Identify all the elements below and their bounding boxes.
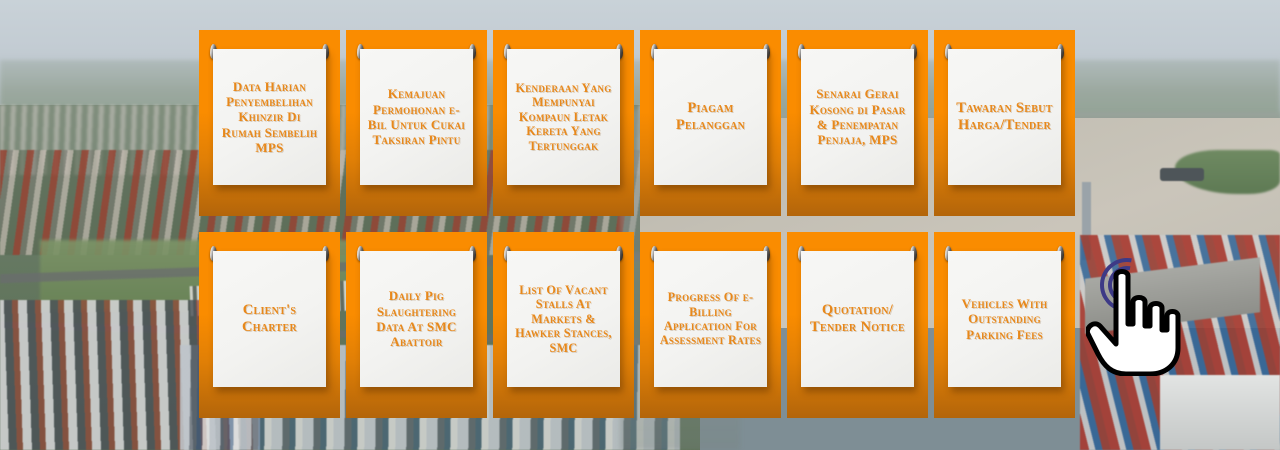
card-label: Daily Pig Slaughtering Data At SMC Abatt… (365, 288, 468, 349)
service-card-4[interactable]: Piagam Pelanggan (640, 30, 781, 216)
card-label: Kenderaan Yang Mempunyai Kompaun Letak K… (512, 81, 615, 153)
service-card-11[interactable]: Quotation/ Tender Notice (787, 232, 928, 418)
card-paper: Client's Charter (213, 251, 326, 387)
card-paper: Quotation/ Tender Notice (801, 251, 914, 387)
card-paper: Senarai Gerai Kosong di Pasar & Penempat… (801, 49, 914, 185)
card-paper: Kemajuan Permohonan e-Bil Untuk Cukai Ta… (360, 49, 473, 185)
card-label: Quotation/ Tender Notice (806, 302, 909, 336)
card-paper: Daily Pig Slaughtering Data At SMC Abatt… (360, 251, 473, 387)
service-card-3[interactable]: Kenderaan Yang Mempunyai Kompaun Letak K… (493, 30, 634, 216)
card-row-1: Data Harian Penyembelihan Khinzir Di Rum… (199, 30, 1081, 216)
card-label: Piagam Pelanggan (659, 100, 762, 134)
river-barge (1160, 168, 1204, 181)
card-label: List Of Vacant Stalls At Markets & Hawke… (512, 283, 615, 355)
card-label: Tawaran Sebut Harga/Tender (953, 100, 1056, 134)
service-card-5[interactable]: Senarai Gerai Kosong di Pasar & Penempat… (787, 30, 928, 216)
card-paper: Kenderaan Yang Mempunyai Kompaun Letak K… (507, 49, 620, 185)
service-card-1[interactable]: Data Harian Penyembelihan Khinzir Di Rum… (199, 30, 340, 216)
card-label: Progress Of e-Billing Application For As… (659, 290, 762, 348)
card-label: Data Harian Penyembelihan Khinzir Di Rum… (218, 79, 321, 156)
card-paper: List Of Vacant Stalls At Markets & Hawke… (507, 251, 620, 387)
card-label: Kemajuan Permohonan e-Bil Untuk Cukai Ta… (365, 86, 468, 147)
card-paper: Piagam Pelanggan (654, 49, 767, 185)
service-card-6[interactable]: Tawaran Sebut Harga/Tender (934, 30, 1075, 216)
service-card-8[interactable]: Daily Pig Slaughtering Data At SMC Abatt… (346, 232, 487, 418)
service-card-12[interactable]: Vehicles With Outstanding Parking Fees (934, 232, 1075, 418)
service-card-7[interactable]: Client's Charter (199, 232, 340, 418)
service-card-9[interactable]: List Of Vacant Stalls At Markets & Hawke… (493, 232, 634, 418)
card-label: Client's Charter (218, 302, 321, 336)
card-row-2: Client's Charter Daily Pig Slaughtering … (199, 232, 1081, 418)
card-paper: Data Harian Penyembelihan Khinzir Di Rum… (213, 49, 326, 185)
service-card-grid: Data Harian Penyembelihan Khinzir Di Rum… (199, 30, 1081, 420)
service-card-10[interactable]: Progress Of e-Billing Application For As… (640, 232, 781, 418)
card-paper: Progress Of e-Billing Application For As… (654, 251, 767, 387)
service-card-2[interactable]: Kemajuan Permohonan e-Bil Untuk Cukai Ta… (346, 30, 487, 216)
card-label: Senarai Gerai Kosong di Pasar & Penempat… (806, 86, 909, 147)
card-paper: Vehicles With Outstanding Parking Fees (948, 251, 1061, 387)
card-label: Vehicles With Outstanding Parking Fees (953, 296, 1056, 342)
page-stage: Data Harian Penyembelihan Khinzir Di Rum… (0, 0, 1280, 450)
port-office-building (1160, 375, 1280, 450)
card-paper: Tawaran Sebut Harga/Tender (948, 49, 1061, 185)
